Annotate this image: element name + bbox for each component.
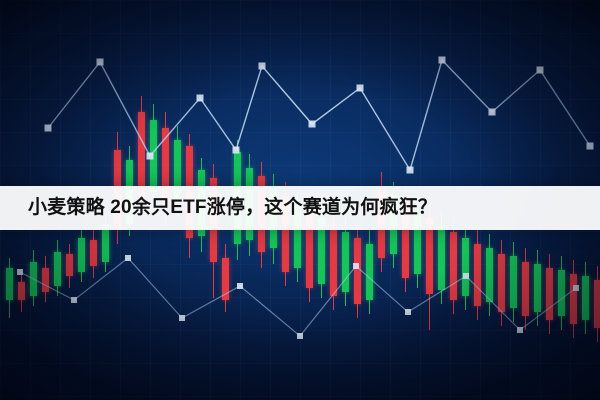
- candle-body: [330, 224, 337, 296]
- headline-banner: 小麦策略 20余只ETF涨停，这个赛道为何疯狂？: [0, 186, 600, 230]
- candle-body: [366, 244, 373, 300]
- candle-body: [90, 240, 97, 266]
- candle-body: [342, 232, 349, 292]
- candle-body: [498, 254, 505, 312]
- candle-body: [462, 238, 469, 296]
- candle-body: [450, 232, 457, 300]
- candle-body: [474, 244, 481, 306]
- candle-body: [534, 264, 541, 312]
- candle-body: [510, 256, 517, 308]
- candle-body: [6, 268, 13, 300]
- candle-body: [582, 276, 589, 320]
- headline-text: 小麦策略 20余只ETF涨停，这个赛道为何疯狂？: [0, 186, 437, 230]
- candle-body: [18, 282, 25, 300]
- candle-body: [30, 262, 37, 296]
- candle-body: [486, 248, 493, 302]
- candle-body: [78, 238, 85, 272]
- candle-body: [54, 252, 61, 286]
- news-image: 小麦策略 20余只ETF涨停，这个赛道为何疯狂？: [0, 0, 600, 400]
- candle-body: [594, 280, 600, 328]
- candle-body: [354, 238, 361, 304]
- candle-body: [222, 258, 229, 300]
- candle-body: [150, 120, 157, 192]
- candle-body: [558, 270, 565, 316]
- candle-body: [66, 254, 73, 276]
- candle-body: [42, 268, 49, 292]
- candle-body: [438, 226, 445, 290]
- candle-body: [138, 112, 145, 196]
- candle-body: [522, 262, 529, 316]
- candle-body: [546, 268, 553, 320]
- candle-body: [570, 274, 577, 324]
